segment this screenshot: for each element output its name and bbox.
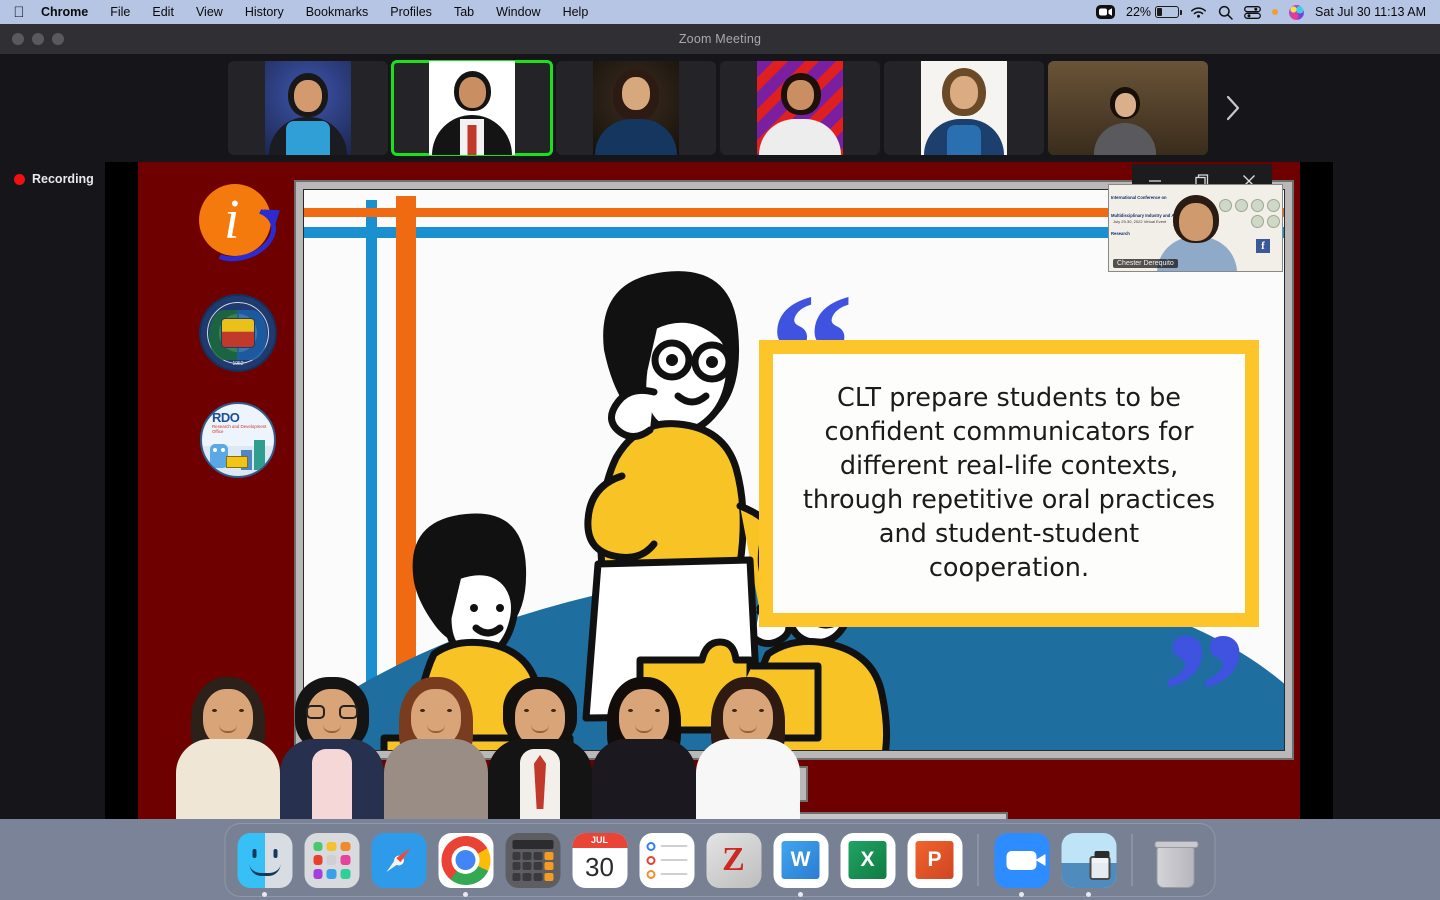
participant-filmstrip: [228, 56, 1248, 160]
panelist-1: [172, 669, 284, 819]
chrome-icon: [438, 833, 493, 888]
panelist-5: [588, 669, 700, 819]
menu-item-bookmarks[interactable]: Bookmarks: [295, 5, 380, 19]
battery-percent-label: 22%: [1126, 5, 1151, 19]
powerpoint-icon: P: [907, 833, 962, 888]
trash-icon: [1148, 833, 1203, 888]
dock-item-zoom[interactable]: [993, 831, 1051, 889]
calendar-icon: JUL 30: [572, 833, 627, 888]
recording-dot-icon: [14, 174, 25, 185]
participant-thumb-4[interactable]: [720, 61, 880, 155]
control-center-icon[interactable]: [1244, 6, 1261, 19]
quote-block: “ CLT prepare students to be confident c…: [759, 340, 1259, 627]
panelist-2: [276, 669, 388, 819]
excel-glyph: X: [849, 841, 887, 879]
menu-item-tab[interactable]: Tab: [443, 5, 485, 19]
apple-logo-icon[interactable]: : [8, 5, 30, 20]
zoom-meeting-body: Recording: [0, 54, 1440, 819]
powerpoint-glyph: P: [916, 841, 954, 879]
menu-item-window[interactable]: Window: [485, 5, 551, 19]
quote-text: CLT prepare students to be confident com…: [795, 382, 1223, 585]
dock-item-launchpad[interactable]: [303, 831, 361, 889]
lspu-seal-logo: 1952: [199, 294, 277, 372]
facebook-icon: f: [1256, 239, 1270, 253]
window-title: Zoom Meeting: [0, 32, 1440, 46]
dock-item-powerpoint[interactable]: P: [906, 831, 964, 889]
ircher-i-logo: i: [197, 182, 279, 264]
dock-item-reminders[interactable]: [638, 831, 696, 889]
dock-item-word[interactable]: W: [772, 831, 830, 889]
wifi-icon[interactable]: [1190, 6, 1207, 19]
quote-frame: CLT prepare students to be confident com…: [759, 340, 1259, 627]
siri-icon[interactable]: [1289, 5, 1304, 20]
dock-item-safari[interactable]: [370, 831, 428, 889]
battery-status[interactable]: 22%: [1126, 5, 1179, 19]
dock-item-calendar[interactable]: JUL 30: [571, 831, 629, 889]
panelist-6: [692, 669, 804, 819]
preview-icon: [1061, 833, 1116, 888]
dock-separator-2: [1132, 834, 1133, 886]
dock-item-finder[interactable]: [236, 831, 294, 889]
dock-item-excel[interactable]: X: [839, 831, 897, 889]
calendar-month: JUL: [572, 833, 627, 848]
menu-bar-clock[interactable]: Sat Jul 30 11:13 AM: [1315, 5, 1426, 19]
pip-name-label: Chester Derequito: [1113, 259, 1178, 268]
panelist-3: [380, 669, 492, 819]
participant-thumb-6[interactable]: [1048, 61, 1208, 155]
dock-item-calculator[interactable]: [504, 831, 562, 889]
shared-screen-area[interactable]: i 1952 RDO Research and Development Offi…: [105, 162, 1333, 819]
pip-event-date: July 29-30, 2022 Virtual Event: [1113, 219, 1166, 224]
zoom-window-titlebar: Zoom Meeting: [0, 24, 1440, 54]
slide-logo-column: i 1952 RDO Research and Development Offi…: [188, 182, 288, 478]
rdo-logo: RDO Research and Development Office: [200, 402, 276, 478]
safari-icon: [371, 833, 426, 888]
menu-bar-status-area: 22% Sat Jul 30 11:13 AM: [1096, 5, 1432, 20]
menu-item-view[interactable]: View: [185, 5, 234, 19]
dock-item-trash[interactable]: [1147, 831, 1205, 889]
word-glyph: W: [782, 841, 820, 879]
menu-item-chrome[interactable]: Chrome: [30, 5, 99, 19]
word-icon: W: [773, 833, 828, 888]
calendar-day: 30: [572, 848, 627, 888]
panelist-4: [484, 669, 596, 819]
excel-icon: X: [840, 833, 895, 888]
battery-icon: [1155, 6, 1179, 18]
zoom-camera-icon[interactable]: [1096, 5, 1115, 19]
dock-item-chrome[interactable]: [437, 831, 495, 889]
macos-menu-bar:  Chrome File Edit View History Bookmark…: [0, 0, 1440, 24]
participant-thumb-3[interactable]: [556, 61, 716, 155]
participant-thumb-5[interactable]: [884, 61, 1044, 155]
menu-item-history[interactable]: History: [234, 5, 295, 19]
menu-item-help[interactable]: Help: [552, 5, 600, 19]
dock-item-zotero[interactable]: Z: [705, 831, 763, 889]
recording-label: Recording: [32, 172, 94, 186]
rdo-logo-subtitle: Research and Development Office: [212, 424, 274, 434]
calculator-icon: [505, 833, 560, 888]
shared-screen-content: i 1952 RDO Research and Development Offi…: [138, 162, 1300, 819]
launchpad-icon: [304, 833, 359, 888]
recording-indicator-dot: [1272, 9, 1278, 15]
filmstrip-next-button[interactable]: [1216, 61, 1250, 155]
recording-indicator: Recording: [14, 172, 94, 186]
dock-separator-1: [978, 834, 979, 886]
panelist-cutout-row: [138, 659, 1300, 819]
zoom-icon: [994, 833, 1049, 888]
menu-item-profiles[interactable]: Profiles: [379, 5, 443, 19]
zotero-icon: Z: [706, 833, 761, 888]
dock-item-preview[interactable]: [1060, 831, 1118, 889]
finder-icon: [237, 833, 292, 888]
participant-thumb-2[interactable]: [392, 61, 552, 155]
menu-item-file[interactable]: File: [99, 5, 141, 19]
search-icon[interactable]: [1218, 5, 1233, 20]
participant-thumb-1[interactable]: [228, 61, 388, 155]
rdo-logo-title: RDO: [212, 410, 239, 425]
screen-root:  Chrome File Edit View History Bookmark…: [0, 0, 1440, 900]
reminders-icon: [639, 833, 694, 888]
presenter-video-pip[interactable]: International Conference on Multidiscipl…: [1108, 184, 1283, 272]
menu-item-edit[interactable]: Edit: [141, 5, 185, 19]
chevron-right-icon: [1225, 95, 1241, 121]
macos-dock: JUL 30 Z W X P: [225, 823, 1216, 897]
lspu-seal-year: 1952: [201, 361, 275, 367]
